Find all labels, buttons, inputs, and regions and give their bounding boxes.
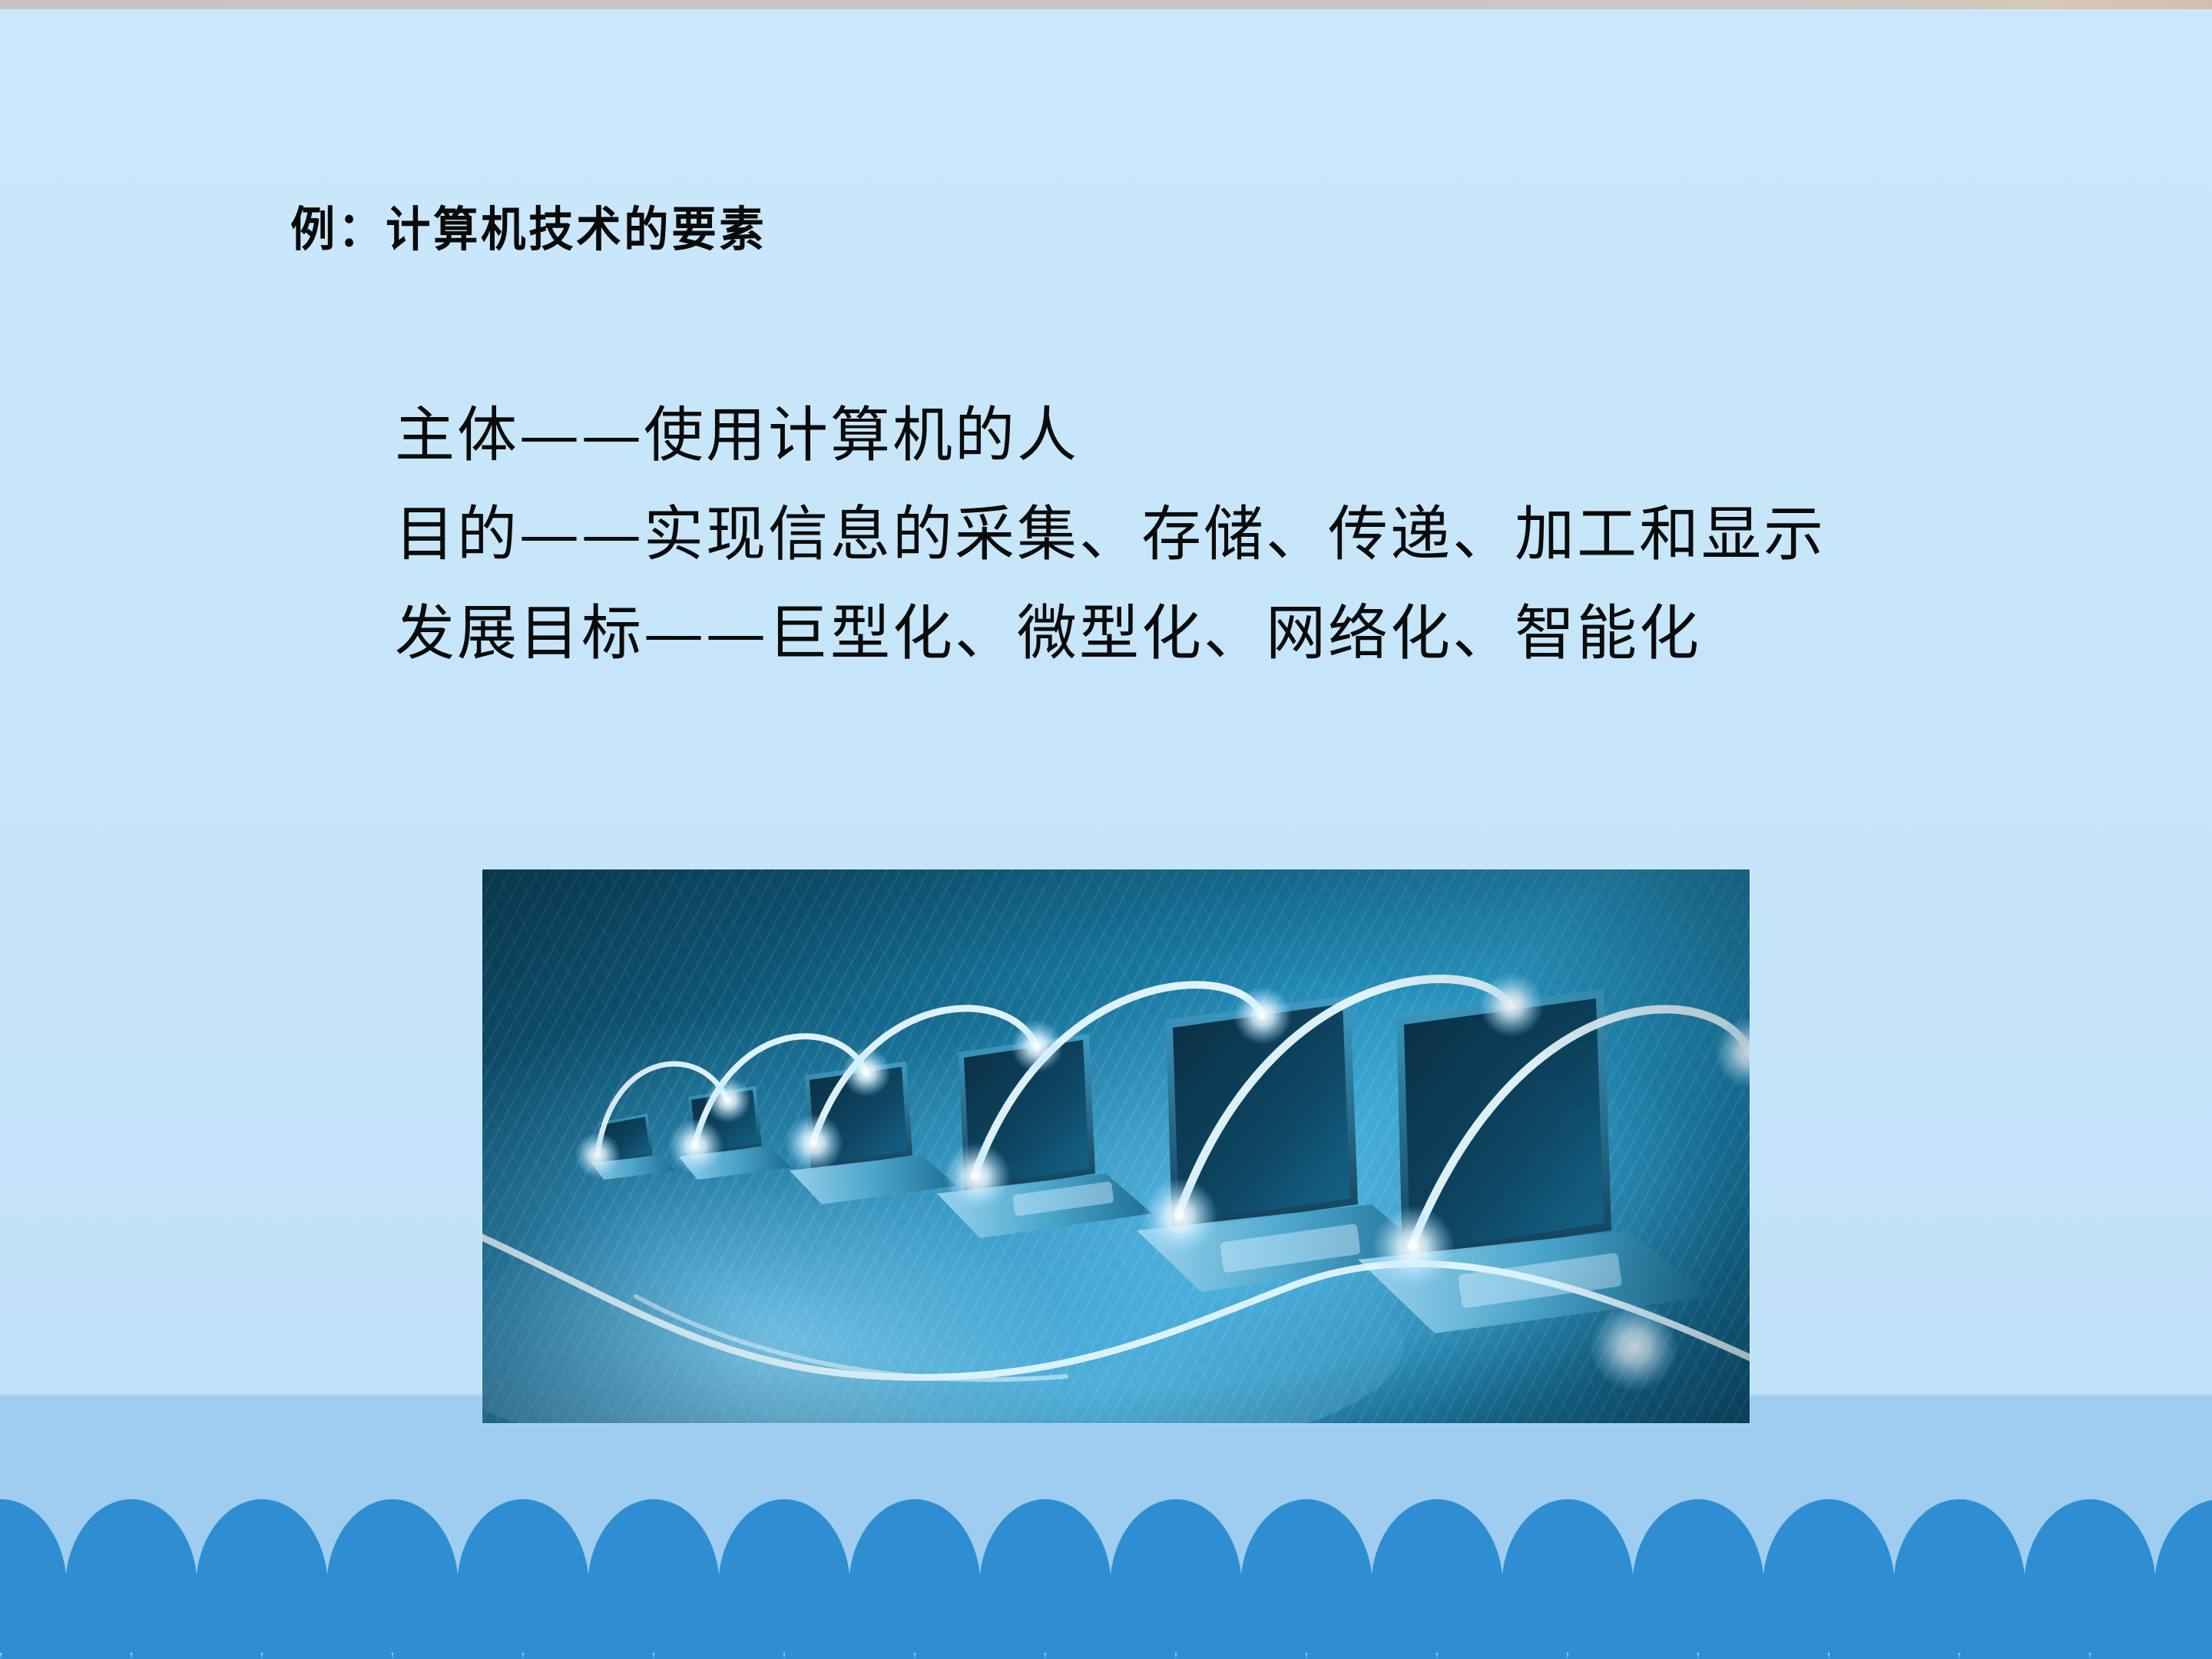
scalloped-arch xyxy=(0,1584,2,1659)
scalloped-arch xyxy=(131,1584,263,1659)
image-vignette xyxy=(482,869,1750,1423)
top-border-strip xyxy=(0,0,2212,9)
body-line-3: 发展目标——巨型化、微型化、网络化、智能化 xyxy=(275,586,1873,682)
scalloped-arch xyxy=(1175,1584,1307,1659)
scalloped-arch xyxy=(1567,1584,1699,1659)
scalloped-arch xyxy=(2089,1584,2212,1659)
scalloped-arch xyxy=(653,1584,785,1659)
scalloped-arch xyxy=(783,1584,916,1659)
body-line-1: 主体——使用计算机的人 xyxy=(275,388,1873,484)
scalloped-arch xyxy=(1828,1584,1960,1659)
scalloped-arch xyxy=(1697,1584,1830,1659)
scalloped-arch xyxy=(261,1584,393,1659)
slide-body-text: 主体——使用计算机的人 目的——实现信息的采集、存储、传递、加工和显示 发展目标… xyxy=(275,388,1873,684)
network-laptops-image xyxy=(482,869,1750,1423)
scalloped-arch xyxy=(522,1584,654,1659)
scallop-row-front xyxy=(0,1584,2212,1659)
body-line-2: 目的——实现信息的采集、存储、传递、加工和显示 xyxy=(275,487,1873,583)
scalloped-arch xyxy=(392,1584,524,1659)
slide-canvas: 例：计算机技术的要素 主体——使用计算机的人 目的——实现信息的采集、存储、传递… xyxy=(0,0,2212,1659)
scalloped-arch xyxy=(914,1584,1046,1659)
scalloped-arch xyxy=(0,1584,132,1659)
scalloped-arch xyxy=(1306,1584,1438,1659)
scalloped-arch xyxy=(1045,1584,1177,1659)
scalloped-arch xyxy=(1959,1584,2091,1659)
scalloped-arch xyxy=(1436,1584,1568,1659)
slide-title: 例：计算机技术的要素 xyxy=(290,206,767,253)
